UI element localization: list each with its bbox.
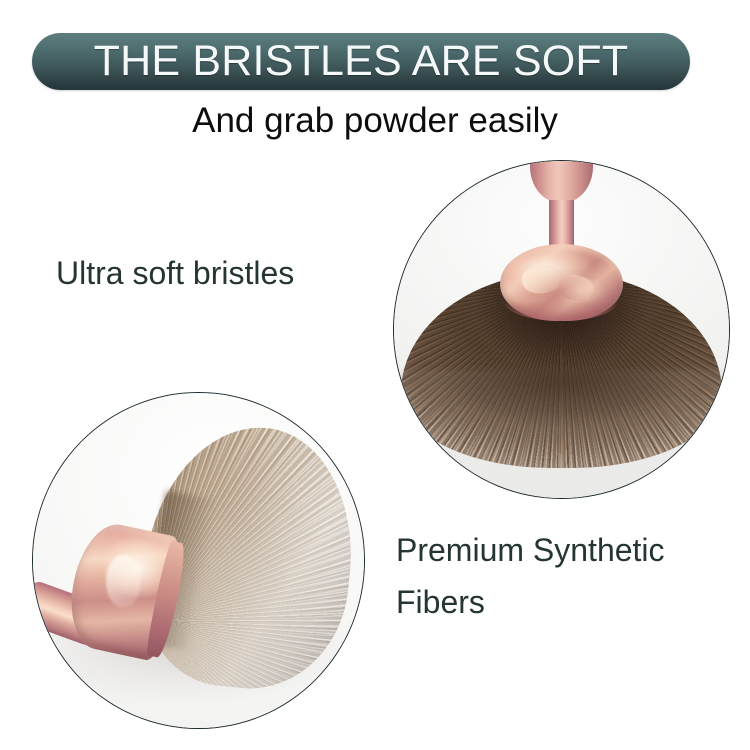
headline-banner: THE BRISTLES ARE SOFT bbox=[32, 33, 690, 90]
headline-text: THE BRISTLES ARE SOFT bbox=[94, 40, 629, 83]
photo-circle-fan-brush bbox=[393, 160, 730, 499]
product-feature-banner: THE BRISTLES ARE SOFT And grab powder ea… bbox=[0, 0, 750, 750]
kabuki-ferrule-highlight bbox=[104, 553, 143, 609]
fan-brush-ferrule bbox=[500, 244, 624, 322]
fan-brush-bristle-haze bbox=[397, 370, 725, 471]
callout-label-ultra-soft-bristles: Ultra soft bristles bbox=[56, 253, 294, 293]
photo-circle-kabuki-brush bbox=[32, 392, 365, 729]
callout-label-premium-synthetic-fibers: Premium Synthetic Fibers bbox=[396, 524, 726, 628]
kabuki-brush-image bbox=[33, 393, 364, 728]
subtitle-text: And grab powder easily bbox=[0, 100, 750, 142]
fan-brush-image bbox=[394, 161, 729, 498]
